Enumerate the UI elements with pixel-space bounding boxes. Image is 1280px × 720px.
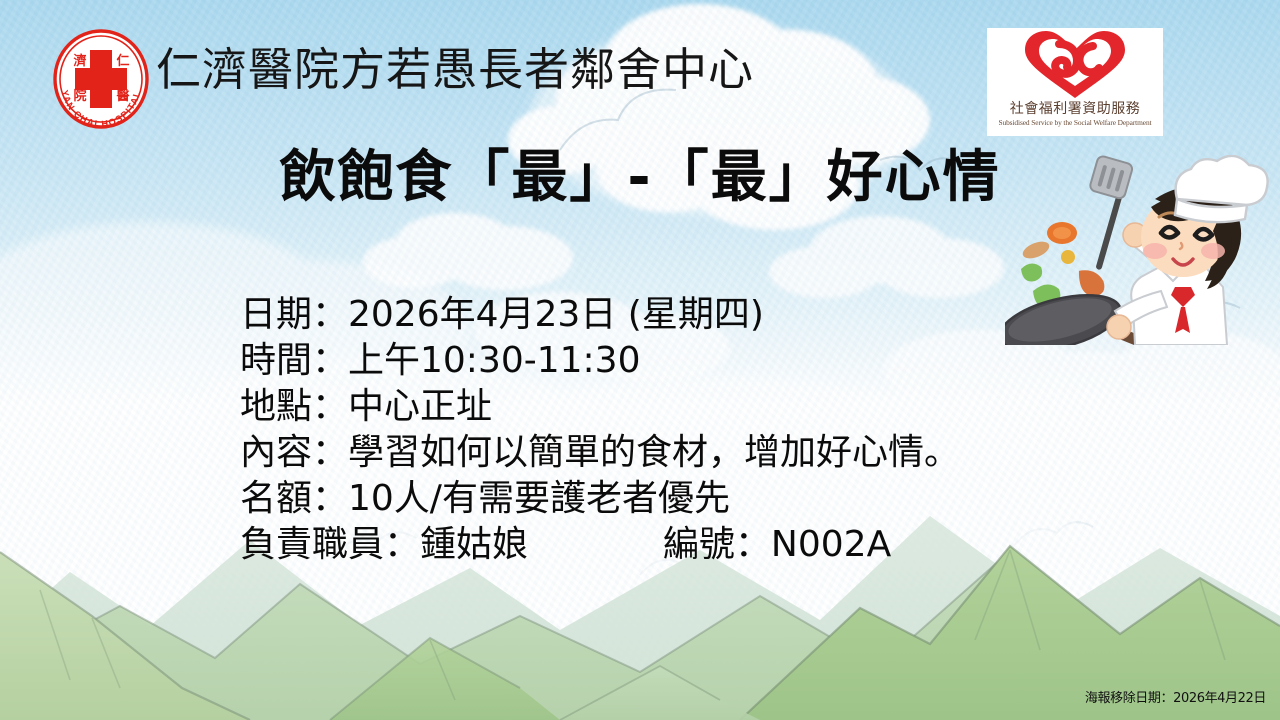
logo-char-top-left: 濟: [73, 53, 86, 69]
organization-name: 仁濟醫院方若愚長者鄰舍中心: [156, 48, 754, 93]
swd-logo-english-text: Subsidised Service by the Social Welfare…: [998, 119, 1151, 126]
detail-row-quota: 名額：10人/有需要護老者優先: [240, 476, 960, 522]
cheek-left: [1143, 243, 1167, 259]
spatula-icon: [1089, 155, 1134, 270]
chef-cooking-illustration: [1005, 155, 1280, 345]
yan-chai-hospital-logo: 濟 仁 院 醫 YAN CHAI HOSPITAL: [47, 27, 155, 131]
broccoli-1: [1021, 263, 1042, 281]
logo-char-top-right: 仁: [116, 53, 129, 69]
detail-row-time: 時間：上午10:30-11:30: [240, 338, 960, 384]
corn-piece: [1061, 250, 1075, 264]
logo-char-bottom-right: 醫: [116, 89, 129, 104]
mushroom-slice: [1020, 238, 1051, 261]
swd-heart-icon: [1015, 28, 1135, 102]
staff-text: 負責職員：鍾姑娘: [240, 524, 528, 565]
poster-removal-date: 海報移除日期：2026年4月22日: [1085, 687, 1266, 706]
logo-char-bottom-left: 院: [73, 88, 86, 104]
social-welfare-department-logo: 社會福利署資助服務 Subsidised Service by the Soci…: [987, 28, 1163, 136]
swd-logo-chinese-text: 社會福利署資助服務: [1010, 103, 1141, 117]
event-details-block: 日期：2026年4月23日 (星期四) 時間：上午10:30-11:30 地點：…: [240, 292, 960, 568]
poster-canvas: 濟 仁 院 醫 YAN CHAI HOSPITAL 仁濟醫院方若愚長者鄰舍中心 …: [0, 0, 1280, 720]
detail-row-venue: 地點：中心正址: [240, 384, 960, 430]
detail-row-content: 內容：學習如何以簡單的食材，增加好心情。: [240, 430, 960, 476]
detail-row-date: 日期：2026年4月23日 (星期四): [240, 292, 960, 338]
cheek-right: [1201, 243, 1225, 259]
hand-left: [1107, 315, 1131, 339]
chef-hat-icon: [1175, 156, 1268, 222]
code-text: 編號：N002A: [663, 524, 891, 565]
sausage-1: [1075, 269, 1107, 298]
detail-row-staff-and-code: 負責職員：鍾姑娘 編號：N002A: [240, 522, 960, 568]
